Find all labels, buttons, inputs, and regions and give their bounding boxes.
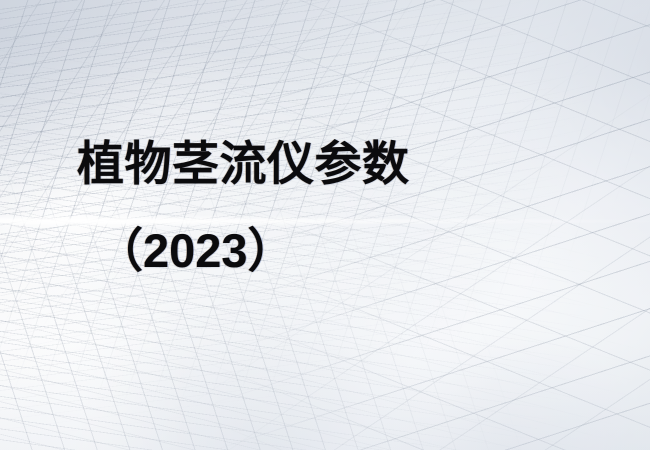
title-slide: 植物茎流仪参数 （2023） (0, 0, 650, 450)
page-subtitle-year: （2023） (96, 227, 295, 274)
page-title: 植物茎流仪参数 (77, 140, 410, 187)
title-block: 植物茎流仪参数 （2023） (0, 0, 650, 450)
